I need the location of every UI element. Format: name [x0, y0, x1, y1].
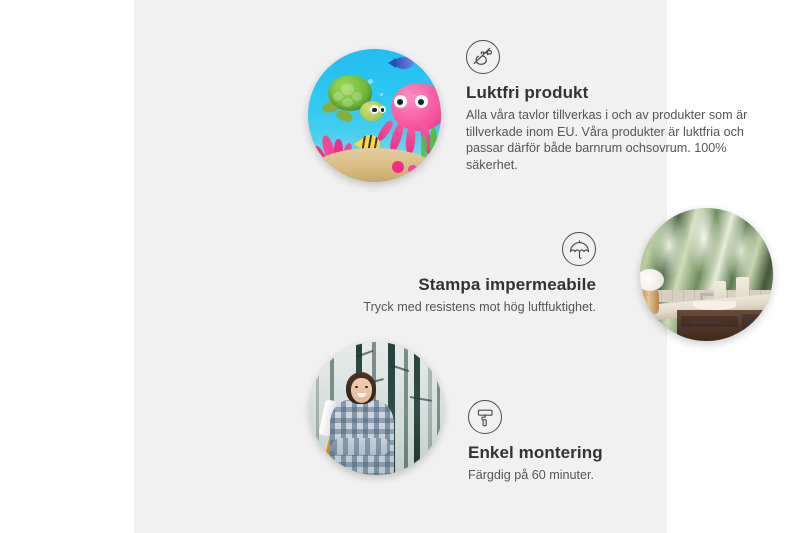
no-odor-perfume-bottle-icon [466, 40, 500, 74]
paint-roller-icon [468, 400, 502, 434]
umbrella-icon [562, 232, 596, 266]
feature-title: Stampa impermeabile [330, 275, 596, 295]
feature-title: Luktfri produkt [466, 83, 752, 103]
feature-easy-mounting: Enkel montering Färgdig på 60 minuter. [468, 400, 744, 484]
feature-waterproof: Stampa impermeabile Tryck med resistens … [330, 232, 596, 316]
feature-description: Tryck med resistens mot hög luftfuktighe… [330, 299, 596, 316]
info-panel: Luktfri produkt Alla våra tavlor tillver… [134, 0, 667, 533]
feature-odor-free: Luktfri produkt Alla våra tavlor tillver… [466, 40, 752, 173]
feature-description: Färgdig på 60 minuter. [468, 467, 744, 484]
woman-paint-roller-forest-mural-photo [310, 342, 443, 475]
feature-title: Enkel montering [468, 443, 744, 463]
product-feature-infographic: Luktfri produkt Alla våra tavlor tillver… [0, 0, 800, 533]
bathroom-botanical-wallpaper-photo [640, 208, 773, 341]
underwater-children-mural-photo [308, 49, 441, 182]
feature-description: Alla våra tavlor tillverkas i och av pro… [466, 107, 752, 173]
